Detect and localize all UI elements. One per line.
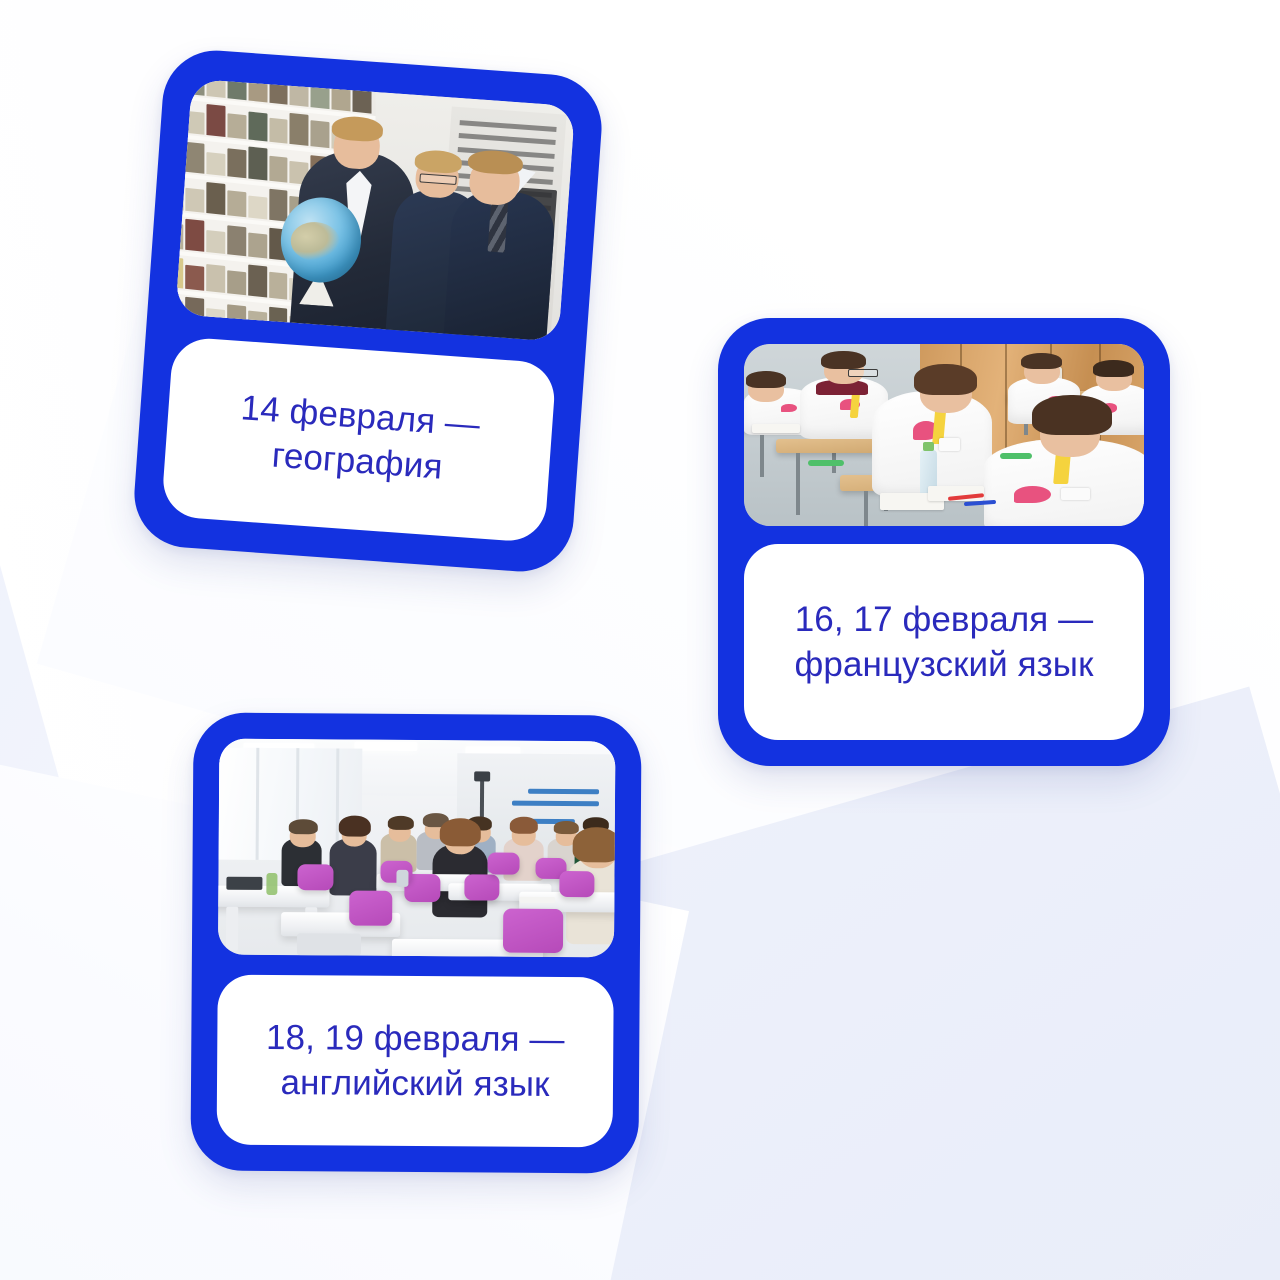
schedule-card-english[interactable]: 18, 19 февраля — английский язык [190,712,641,1173]
card-label-french: 16, 17 февраля — французский язык [744,544,1144,740]
card-label-text: 18, 19 февраля — английский язык [217,1014,614,1108]
card-label-english: 18, 19 февраля — английский язык [217,975,614,1148]
card-label-text: 16, 17 февраля — французский язык [744,597,1144,688]
poster-canvas: 14 февраля — география [0,0,1280,1280]
schedule-card-geography[interactable]: 14 февраля — география [131,47,605,575]
library-globe-photo [175,79,575,342]
classroom-photo [218,739,615,958]
exam-room-photo [744,344,1144,526]
card-label-geography: 14 февраля — география [161,336,557,543]
card-label-text: 14 февраля — география [164,381,553,498]
schedule-card-french[interactable]: 16, 17 февраля — французский язык [718,318,1170,766]
